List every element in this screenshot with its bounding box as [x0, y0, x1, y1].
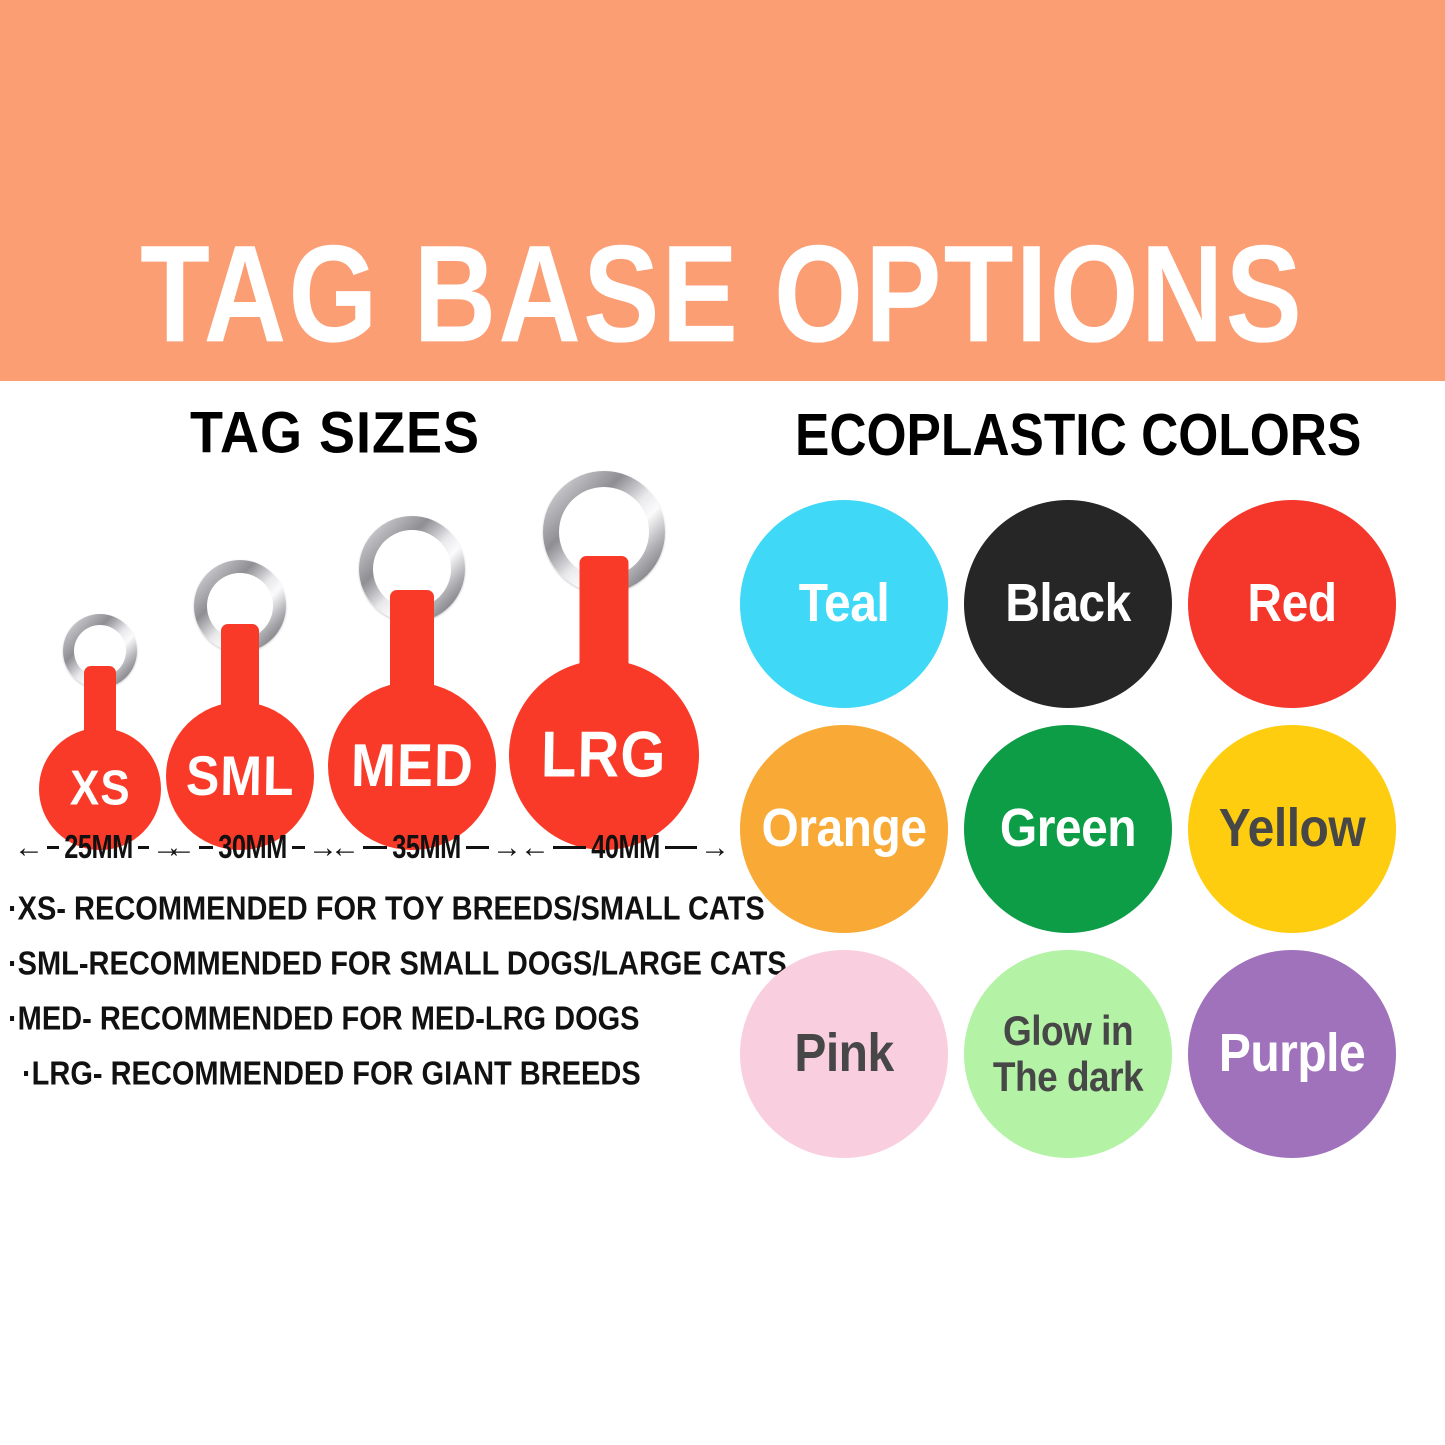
tag-disc: LRG	[509, 660, 699, 850]
size-recommendations-list: ·XS- RECOMMENDED FOR TOY BREEDS/SMALL CA…	[0, 893, 760, 1113]
color-swatch-label: Glow inThe dark	[993, 1008, 1143, 1101]
recommendation-item: ·SML-RECOMMENDED FOR SMALL DOGS/LARGE CA…	[0, 948, 760, 982]
tag-size-xs[interactable]: XS	[39, 666, 161, 850]
color-swatch-black[interactable]: Black	[964, 500, 1172, 708]
color-swatch-label: Teal	[799, 577, 889, 631]
ecoplastic-colors-heading: ECOPLASTIC COLORS	[795, 406, 1361, 465]
arrow-right-icon: →	[700, 833, 730, 863]
color-swatch-red[interactable]: Red	[1188, 500, 1396, 708]
dimension-line	[553, 846, 586, 849]
arrow-left-icon: ←	[520, 833, 550, 863]
color-swatch-orange[interactable]: Orange	[740, 725, 948, 933]
dimension-line	[138, 846, 150, 849]
tag-size-label: MED	[350, 736, 474, 796]
tag-sizes-diagram: XS←25MM→SML←30MM→MED←35MM→LRG←40MM→	[0, 470, 730, 890]
color-swatch-label: Purple	[1219, 1027, 1365, 1081]
color-swatch-yellow[interactable]: Yellow	[1188, 725, 1396, 933]
color-swatch-purple[interactable]: Purple	[1188, 950, 1396, 1158]
tag-disc: MED	[328, 682, 496, 850]
dimension-value: 40MM	[591, 829, 660, 867]
tag-size-lrg[interactable]: LRG	[509, 556, 699, 850]
recommendation-item: ·XS- RECOMMENDED FOR TOY BREEDS/SMALL CA…	[0, 893, 760, 927]
color-swatch-label: Red	[1247, 577, 1336, 631]
tag-size-label: LRG	[541, 723, 667, 788]
color-swatch-teal[interactable]: Teal	[740, 500, 948, 708]
tag-dimension-sml: ←30MM→	[166, 832, 338, 863]
dimension-line	[47, 846, 59, 849]
color-swatch-glow-in-the-dark[interactable]: Glow inThe dark	[964, 950, 1172, 1158]
tag-size-label: XS	[69, 764, 130, 813]
color-swatch-green[interactable]: Green	[964, 725, 1172, 933]
color-swatch-pink[interactable]: Pink	[740, 950, 948, 1158]
dimension-line	[665, 846, 698, 849]
color-swatch-label: Pink	[794, 1027, 893, 1081]
tag-dimension-lrg: ←40MM→	[520, 832, 730, 863]
color-swatch-label: Yellow	[1219, 802, 1365, 856]
tag-size-med[interactable]: MED	[328, 590, 496, 850]
tag-dimension-xs: ←25MM→	[14, 832, 182, 863]
arrow-left-icon: ←	[330, 833, 360, 863]
color-swatch-grid: TealBlackRedOrangeGreenYellowPinkGlow in…	[740, 500, 1396, 1158]
page-title: TAG BASE OPTIONS	[141, 225, 1305, 381]
dimension-line	[292, 846, 306, 849]
dimension-line	[466, 846, 490, 849]
arrow-left-icon: ←	[14, 833, 44, 863]
color-swatch-label: Black	[1005, 577, 1131, 631]
tag-sizes-heading: TAG SIZES	[190, 404, 480, 462]
color-swatch-label: Green	[1000, 802, 1136, 856]
recommendation-item: ·LRG- RECOMMENDED FOR GIANT BREEDS	[0, 1058, 760, 1092]
tag-dimension-med: ←35MM→	[330, 832, 522, 863]
dimension-line	[363, 846, 387, 849]
tag-size-label: SML	[185, 748, 294, 804]
tag-base-options-infographic: TAG BASE OPTIONS TAG SIZES ECOPLASTIC CO…	[0, 0, 1445, 1445]
dimension-value: 30MM	[218, 829, 287, 867]
arrow-left-icon: ←	[166, 833, 196, 863]
color-swatch-label: Orange	[761, 802, 926, 856]
dimension-line	[199, 846, 213, 849]
recommendation-item: ·MED- RECOMMENDED FOR MED-LRG DOGS	[0, 1003, 760, 1037]
tag-size-sml[interactable]: SML	[166, 624, 314, 850]
dimension-value: 25MM	[64, 829, 133, 867]
dimension-value: 35MM	[392, 829, 461, 867]
header-banner: TAG BASE OPTIONS	[0, 0, 1445, 381]
